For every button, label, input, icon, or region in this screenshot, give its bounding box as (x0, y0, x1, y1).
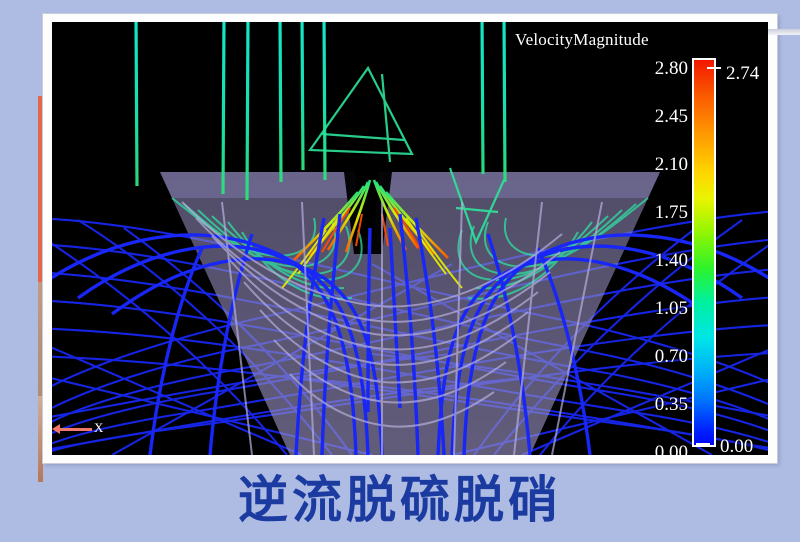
colorbar-tick-5: 1.05 (655, 298, 688, 320)
cone-rim (160, 172, 660, 198)
colorbar-tick-8: 0.00 (655, 442, 688, 455)
colorbar-tick-2: 2.10 (655, 154, 688, 176)
colorbar-tick-0: 2.80 (655, 58, 688, 80)
figure-caption: 逆流脱硫脱硝 (0, 470, 800, 530)
colorbar-title: VelocityMagnitude (515, 30, 649, 50)
colorbar-tick-1: 2.45 (655, 106, 688, 128)
colorbar-tick-7: 0.35 (655, 394, 688, 416)
colorbar-min-annotation: 0.00 (720, 436, 753, 455)
x-axis-label: X (94, 420, 103, 436)
x-axis-arrow-icon (58, 428, 92, 431)
axis-orientation-widget: X (58, 414, 120, 448)
colorbar-min-tickmark (696, 443, 710, 445)
colorbar-max-tickmark (707, 67, 721, 69)
colorbar-tick-4: 1.40 (655, 250, 688, 272)
colorbar-tick-labels: 2.80 2.45 2.10 1.75 1.40 1.05 0.70 0.35 … (592, 52, 688, 452)
colorbar-tick-6: 0.70 (655, 346, 688, 368)
render-viewport[interactable]: VelocityMagnitude 2.74 0.00 2.80 2.45 2.… (52, 22, 768, 455)
colorbar[interactable] (692, 58, 716, 447)
screenshot-root: VelocityMagnitude 2.74 0.00 2.80 2.45 2.… (0, 0, 800, 542)
colorbar-tick-3: 1.75 (655, 202, 688, 224)
colorbar-max-annotation: 2.74 (726, 63, 759, 85)
